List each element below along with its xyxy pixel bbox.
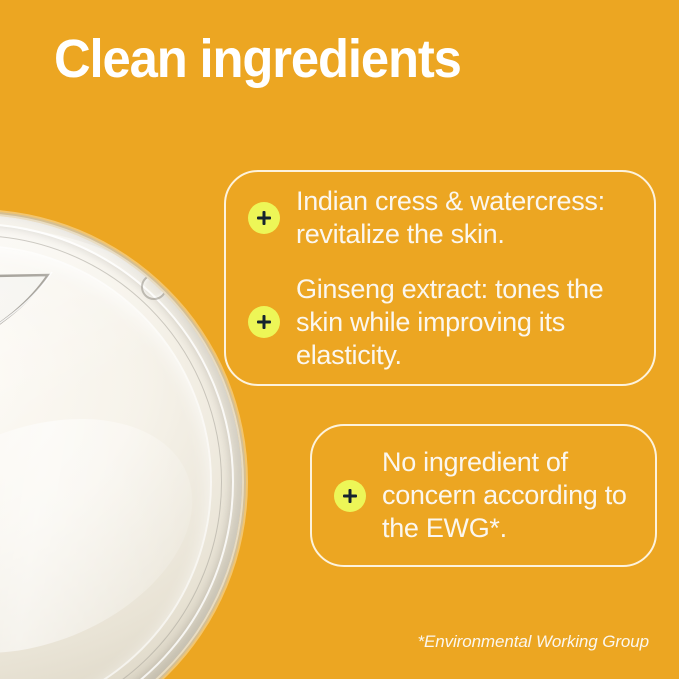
dish-rim-middle — [0, 235, 222, 679]
list-item-label: Indian cress & watercress: revitalize th… — [296, 185, 636, 251]
safety-card: No ingredient of concern according to th… — [310, 424, 657, 567]
footnote: *Environmental Working Group — [417, 631, 649, 653]
dish-highlight-secondary — [0, 374, 227, 679]
dish-highlight — [0, 226, 221, 546]
plus-icon — [334, 480, 366, 512]
list-item-label: No ingredient of concern according to th… — [382, 446, 641, 545]
dish-rim-outer — [0, 223, 234, 679]
list-item: Indian cress & watercress: revitalize th… — [226, 185, 636, 251]
page-title: Clean ingredients — [54, 28, 461, 90]
plus-icon — [248, 306, 280, 338]
ingredients-card: Indian cress & watercress: revitalize th… — [224, 170, 656, 386]
dish-tick-mark — [181, 286, 193, 296]
plus-icon — [248, 202, 280, 234]
product-photo — [0, 215, 242, 679]
dish-notch-icon — [141, 274, 167, 300]
gel-patch-shape — [0, 215, 242, 679]
list-item: Ginseng extract: tones the skin while im… — [226, 273, 636, 372]
dish-rim-inner — [0, 245, 212, 679]
list-item: No ingredient of concern according to th… — [312, 446, 641, 545]
product-benefits-poster: Clean ingredients Indian cress & watercr… — [0, 0, 679, 679]
list-item-label: Ginseng extract: tones the skin while im… — [296, 273, 636, 372]
